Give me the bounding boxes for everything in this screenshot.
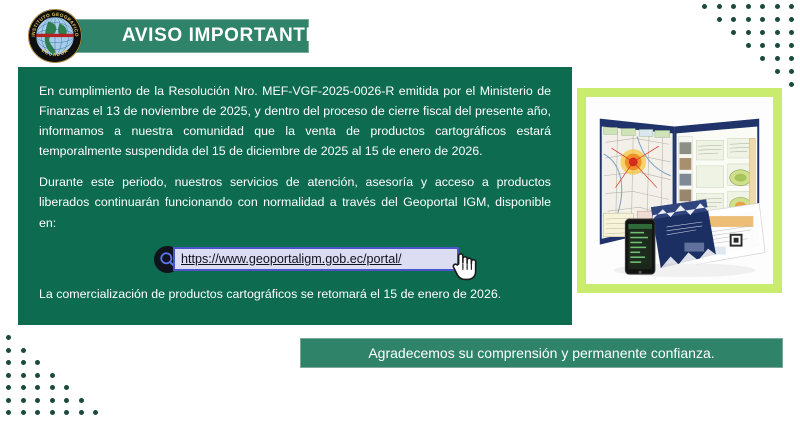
decorative-dot — [789, 69, 794, 74]
decorative-dot — [731, 4, 736, 9]
decorative-dot — [35, 360, 40, 365]
decorative-dot — [21, 348, 26, 353]
decorative-dot — [21, 385, 26, 390]
decorative-dot — [93, 410, 98, 415]
geoportal-url-link[interactable]: https://www.geoportaligm.gob.ec/portal/ — [173, 247, 459, 271]
decorative-dot — [50, 385, 55, 390]
decorative-dot — [760, 56, 765, 61]
decorative-dot — [775, 17, 780, 22]
decorative-dot — [35, 410, 40, 415]
decorative-dot — [789, 17, 794, 22]
decorative-dot — [35, 385, 40, 390]
notice-panel: En cumplimiento de la Resolución Nro. ME… — [18, 67, 572, 325]
footer-message: Agradecemos su comprensión y permanente … — [368, 345, 714, 361]
decorative-dot — [21, 373, 26, 378]
decorative-dot — [731, 17, 736, 22]
decorative-dot — [775, 43, 780, 48]
products-photo-card — [577, 88, 782, 293]
decorative-dot — [760, 43, 765, 48]
decorative-dot — [731, 30, 736, 35]
decorative-dot — [6, 373, 11, 378]
decorative-dot — [6, 335, 11, 340]
igm-logo-icon: INSTITUTO GEOGRAFICO · ECUADOR · — [27, 8, 83, 64]
decorative-dot — [746, 4, 751, 9]
decorative-dot — [746, 43, 751, 48]
decorative-dot — [746, 30, 751, 35]
decorative-dot — [64, 410, 69, 415]
decorative-dot — [6, 398, 11, 403]
decorative-dot — [21, 398, 26, 403]
decorative-dot — [6, 410, 11, 415]
decorative-dot — [35, 398, 40, 403]
decorative-dot — [64, 385, 69, 390]
decorative-dot — [746, 17, 751, 22]
decorative-dot — [64, 398, 69, 403]
page-title: AVISO IMPORTANTE — [122, 25, 319, 47]
decorative-dot — [775, 69, 780, 74]
decorative-dot — [50, 398, 55, 403]
decorative-dot — [35, 373, 40, 378]
header-banner: AVISO IMPORTANTE — [74, 19, 309, 53]
decorative-dots-top-right — [682, 4, 794, 90]
products-photo — [586, 97, 773, 284]
decorative-dot — [21, 410, 26, 415]
decorative-dot — [6, 360, 11, 365]
decorative-dot — [760, 4, 765, 9]
decorative-dot — [79, 410, 84, 415]
decorative-dot — [79, 398, 84, 403]
decorative-dot — [717, 4, 722, 9]
decorative-dot — [789, 4, 794, 9]
decorative-dot — [789, 43, 794, 48]
notice-paragraph-3: La comercialización de productos cartogr… — [39, 284, 551, 304]
decorative-dot — [789, 82, 794, 87]
decorative-dot — [775, 56, 780, 61]
geoportal-url-text: https://www.geoportaligm.gob.ec/portal/ — [181, 252, 402, 266]
decorative-dot — [789, 30, 794, 35]
notice-poster: INSTITUTO GEOGRAFICO · ECUADOR · AVISO I… — [0, 0, 800, 427]
decorative-dot — [702, 4, 707, 9]
decorative-dot — [775, 30, 780, 35]
notice-paragraph-2: Durante este periodo, nuestros servicios… — [39, 172, 551, 232]
decorative-dot — [50, 410, 55, 415]
decorative-dot — [775, 4, 780, 9]
decorative-dot — [21, 360, 26, 365]
pointing-hand-cursor-icon — [448, 248, 482, 282]
decorative-dots-bottom-left — [6, 335, 118, 423]
url-row: https://www.geoportaligm.gob.ec/portal/ — [39, 244, 551, 278]
notice-paragraph-1: En cumplimiento de la Resolución Nro. ME… — [39, 81, 551, 161]
decorative-dot — [50, 373, 55, 378]
decorative-dot — [6, 385, 11, 390]
decorative-dot — [6, 348, 11, 353]
decorative-dot — [717, 17, 722, 22]
decorative-dot — [760, 17, 765, 22]
decorative-dot — [760, 30, 765, 35]
decorative-dot — [789, 56, 794, 61]
footer-banner: Agradecemos su comprensión y permanente … — [300, 338, 783, 368]
